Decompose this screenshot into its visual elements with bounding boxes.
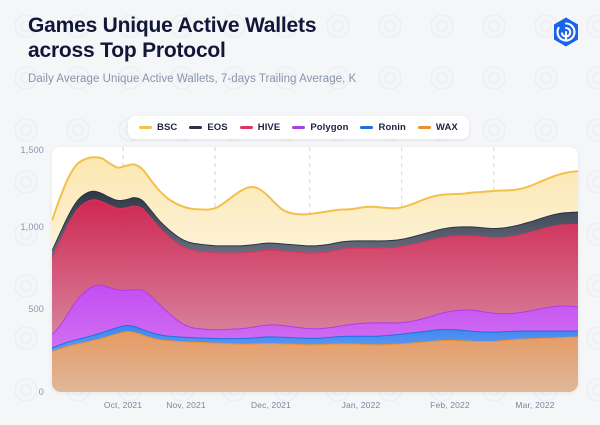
plot-area: [52, 147, 578, 392]
legend-label-bsc: BSC: [157, 122, 177, 133]
dappradar-hexagon-logo-icon: [550, 16, 582, 48]
y-axis-tick-0: 0: [0, 387, 44, 397]
page-subtitle: Daily Average Unique Active Wallets, 7-d…: [28, 73, 528, 85]
legend-item-wax[interactable]: WAX: [418, 122, 458, 133]
legend-label-eos: EOS: [207, 122, 227, 133]
legend-swatch-ronin: [360, 126, 373, 129]
legend-label-wax: WAX: [436, 122, 458, 133]
legend-item-eos[interactable]: EOS: [189, 122, 227, 133]
page-title: Games Unique Active Wallets across Top P…: [28, 14, 528, 64]
x-axis-tick-feb-2022: Feb, 2022: [430, 400, 470, 410]
x-axis-tick-oct-2021: Oct, 2021: [104, 400, 142, 410]
x-axis-tick-nov-2021: Nov, 2021: [166, 400, 205, 410]
legend-label-hive: HIVE: [258, 122, 281, 133]
legend-swatch-hive: [240, 126, 253, 129]
x-axis-tick-dec-2021: Dec, 2021: [251, 400, 291, 410]
legend-swatch-eos: [189, 126, 202, 129]
header: Games Unique Active Wallets across Top P…: [28, 14, 528, 85]
legend-swatch-bsc: [139, 126, 152, 129]
legend-item-bsc[interactable]: BSC: [139, 122, 177, 133]
legend-item-ronin[interactable]: Ronin: [360, 122, 405, 133]
legend-item-hive[interactable]: HIVE: [240, 122, 281, 133]
legend-label-polygon: Polygon: [310, 122, 348, 133]
page-title-line-2: across Top Protocol: [28, 39, 226, 62]
y-axis-tick-1500: 1,500: [0, 145, 44, 155]
legend-swatch-polygon: [292, 126, 305, 129]
legend-item-polygon[interactable]: Polygon: [292, 122, 348, 133]
x-axis-tick-mar-2022: Mar, 2022: [515, 400, 554, 410]
legend-label-ronin: Ronin: [378, 122, 405, 133]
x-axis-tick-jan-2022: Jan, 2022: [342, 400, 381, 410]
y-axis-tick-1000: 1,000: [0, 222, 44, 232]
chart-legend: BSC EOS HIVE Polygon Ronin WAX: [128, 116, 469, 139]
legend-swatch-wax: [418, 126, 431, 129]
y-axis-tick-500: 500: [0, 304, 44, 314]
stacked-area-chart: [52, 147, 578, 392]
chart-card: Games Unique Active Wallets across Top P…: [0, 0, 600, 425]
page-title-line-1: Games Unique Active Wallets: [28, 14, 316, 37]
